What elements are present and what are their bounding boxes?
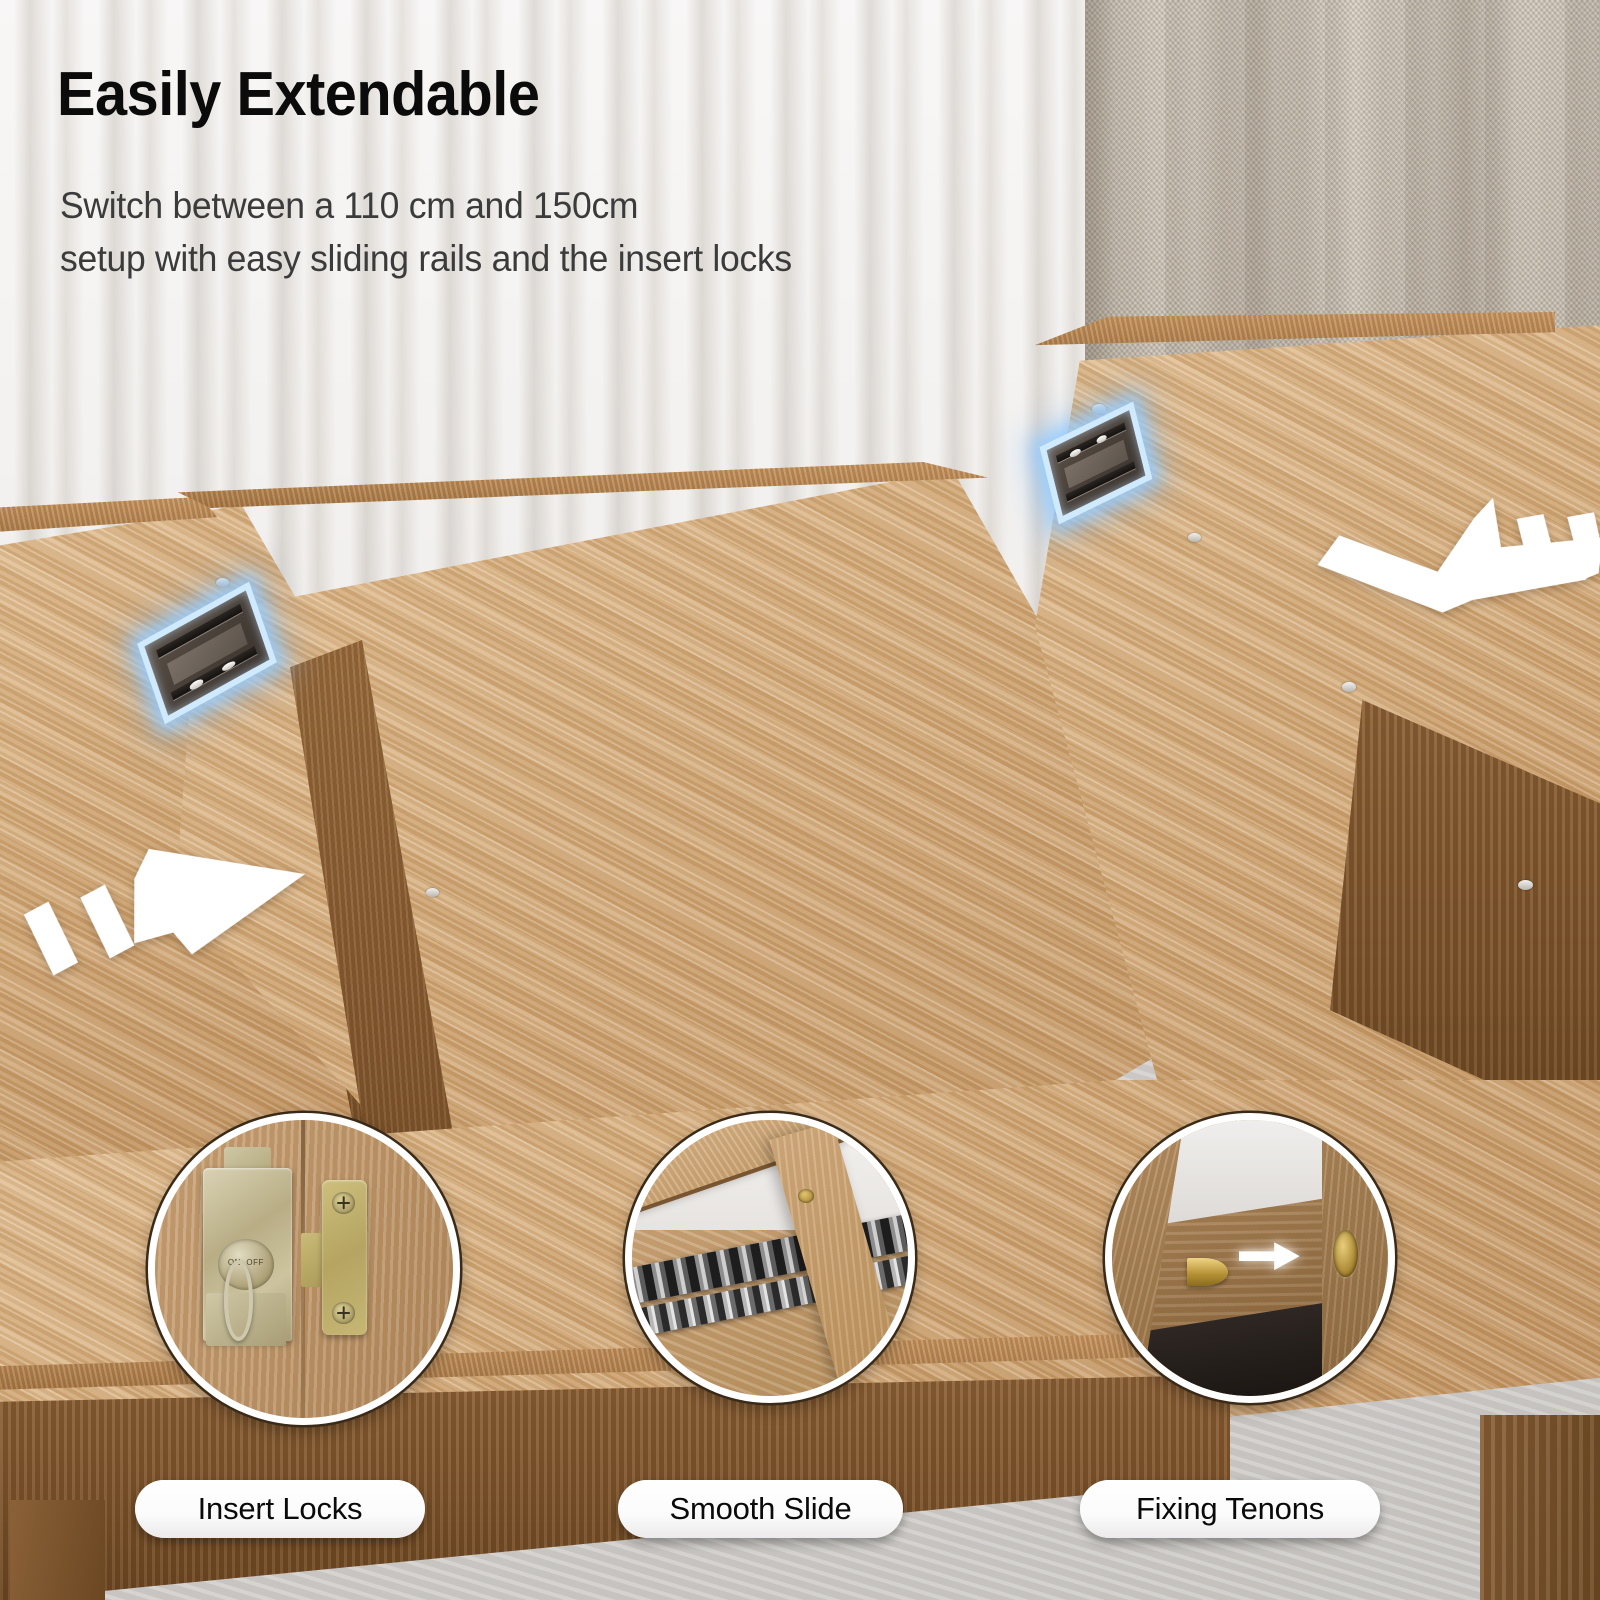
edge-screw-6	[1518, 880, 1533, 890]
left-arrow-dash-2	[79, 882, 136, 961]
callout-smooth-slide-ring	[625, 1113, 915, 1403]
edge-screw-2	[426, 888, 439, 897]
label-fixing-tenons[interactable]: Fixing Tenons	[1080, 1480, 1380, 1538]
callout-insert-locks-ring: ON OFF	[148, 1113, 460, 1425]
page-subtitle: Switch between a 110 cm and 150cm setup …	[60, 180, 792, 285]
callout-insert-locks[interactable]: ON OFF	[148, 1113, 460, 1425]
callout-insert-locks-photo: ON OFF	[155, 1120, 453, 1418]
label-insert-locks[interactable]: Insert Locks	[135, 1480, 425, 1538]
label-smooth-slide-text: Smooth Slide	[670, 1491, 852, 1527]
edge-screw-4	[1342, 682, 1356, 692]
callout-smooth-slide[interactable]	[625, 1113, 915, 1403]
callout-smooth-slide-photo	[632, 1120, 908, 1396]
right-arrow-head	[1314, 478, 1600, 631]
label-fixing-tenons-text: Fixing Tenons	[1136, 1491, 1324, 1527]
table-leg-right	[1480, 1415, 1600, 1600]
tenon-socket-hole-icon	[1333, 1230, 1358, 1277]
edge-screw-1	[216, 578, 229, 587]
label-insert-locks-text: Insert Locks	[198, 1491, 363, 1527]
table-leg-left	[10, 1500, 105, 1600]
tenon-insert-arrow	[1239, 1241, 1300, 1280]
keeper-screw-top-icon	[332, 1192, 354, 1214]
callout-fixing-tenons-ring	[1105, 1113, 1395, 1403]
label-smooth-slide[interactable]: Smooth Slide	[618, 1480, 903, 1538]
product-feature-image: ON OFF Insert Locks	[0, 0, 1600, 1600]
edge-screw-3	[1092, 404, 1106, 414]
keeper-screw-bottom-icon	[332, 1302, 354, 1324]
left-arrow-head	[123, 830, 313, 961]
left-arrow-dash-1	[23, 899, 80, 978]
slide-brass-hole-icon	[798, 1189, 815, 1203]
edge-screw-5	[1188, 533, 1201, 542]
page-title: Easily Extendable	[57, 63, 539, 126]
callout-fixing-tenons-photo	[1112, 1120, 1388, 1396]
key-ring-icon	[224, 1260, 254, 1340]
callout-fixing-tenons[interactable]	[1105, 1113, 1395, 1403]
